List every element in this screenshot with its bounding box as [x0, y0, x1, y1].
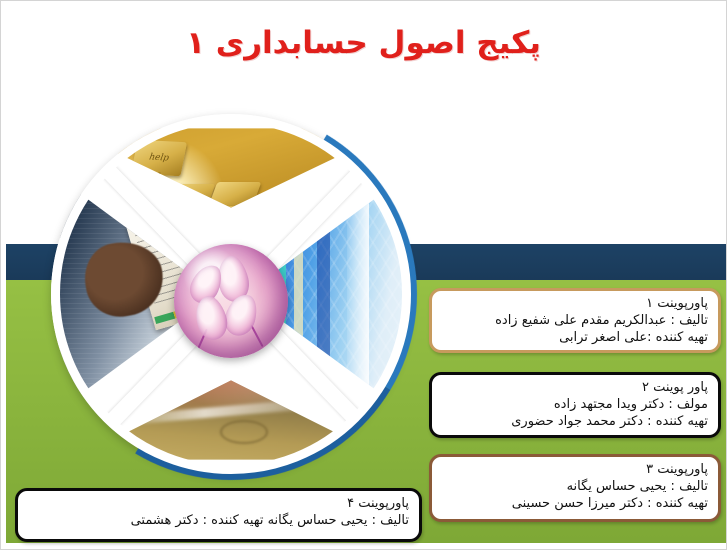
- powerpoint-2-info-box[interactable]: پاور پوینت ۲ مولف : دکتر ویدا مجتهد زاده…: [429, 372, 721, 438]
- keyboard-help-key-icon: help: [131, 140, 187, 177]
- butterfly-antenna-icon: [250, 325, 263, 347]
- circular-collage-image: help: [51, 114, 411, 474]
- powerpoint-3-title: پاورپوینت ۳: [442, 461, 708, 478]
- powerpoint-2-author: مولف : دکتر ویدا مجتهد زاده: [442, 396, 708, 413]
- powerpoint-2-producer: تهیه کننده : دکتر محمد جواد حضوری: [442, 413, 708, 430]
- powerpoint-3-info-box[interactable]: پاورپوینت ۳ تالیف : یحیی حساس یگانه تهیه…: [429, 454, 721, 522]
- page-title: پکیج اصول حسابداری ۱: [1, 25, 726, 61]
- powerpoint-1-producer: تهیه کننده :علی اصغر ترابی: [442, 329, 708, 346]
- keyboard-key-icon: [195, 206, 250, 230]
- powerpoint-4-author-producer: تالیف : یحیی حساس یگانه تهیه کننده : دکت…: [28, 512, 409, 529]
- desk-highlight-icon: [109, 395, 347, 426]
- powerpoint-2-title: پاور پوینت ۲: [442, 379, 708, 396]
- powerpoint-1-title: پاورپوینت ۱: [442, 295, 708, 312]
- slide-canvas: پکیج اصول حسابداری ۱ help: [0, 0, 727, 550]
- keyboard-cord-icon: [151, 172, 160, 202]
- powerpoint-3-producer: تهیه کننده : دکتر میرزا حسن حسینی: [442, 495, 708, 512]
- powerpoint-1-info-box[interactable]: پاورپوینت ۱ تالیف : عبدالکریم مقدم علی ش…: [429, 288, 721, 353]
- butterfly-sphere-icon: [174, 244, 288, 358]
- screen-stripe-icon: [317, 114, 330, 474]
- powerpoint-1-author: تالیف : عبدالکریم مقدم علی شفیع زاده: [442, 312, 708, 329]
- keyboard-key-icon: [163, 184, 216, 208]
- collage-ring: help: [51, 114, 411, 474]
- background-left-margin: [1, 1, 6, 549]
- keyboard-key-icon: [209, 182, 262, 206]
- powerpoint-4-info-box[interactable]: پاورپوینت ۴ تالیف : یحیی حساس یگانه تهیه…: [15, 488, 422, 542]
- desk-ring-icon: [220, 420, 268, 444]
- background-bottom-margin: [1, 543, 726, 549]
- powerpoint-3-author: تالیف : یحیی حساس یگانه: [442, 478, 708, 495]
- powerpoint-4-title: پاورپوینت ۴: [28, 495, 409, 512]
